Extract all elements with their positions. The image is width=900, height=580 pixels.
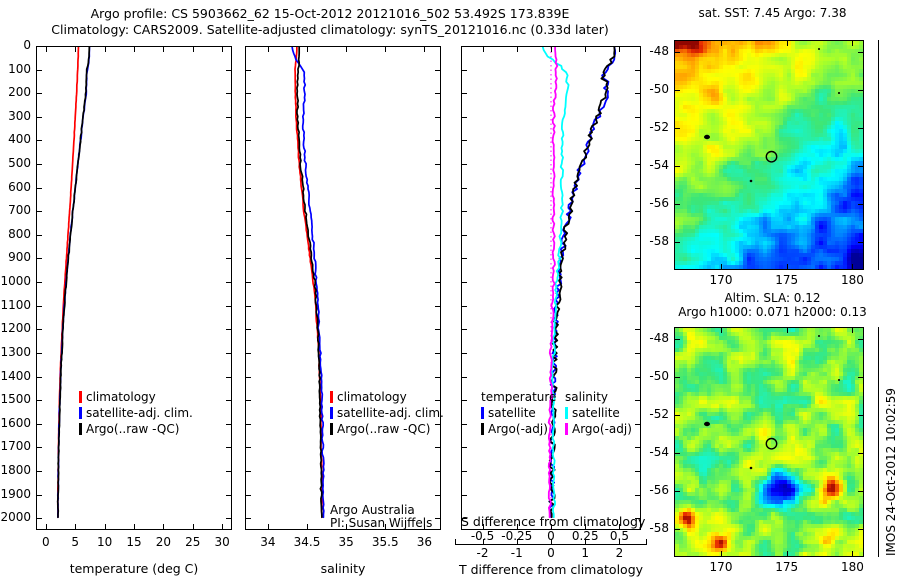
map-lat-tick [858,128,863,129]
map-lon-tick [852,264,853,269]
legend-color-swatch [79,407,82,419]
credit-pi: PI: Susan Wijffels [330,516,432,530]
depth-tick [37,447,42,448]
x-tick [134,47,135,52]
depth-tick [435,164,440,165]
depth-tick [435,93,440,94]
map-lon-tick [787,41,788,46]
map-lon-tick [787,551,788,556]
depth-tick [462,353,467,354]
map-lon-label: 180 [832,560,872,574]
depth-tick [462,377,467,378]
depth-tick [435,471,440,472]
depth-tick [37,329,42,330]
depth-tick [226,353,231,354]
depth-tick [435,424,440,425]
depth-tick [37,282,42,283]
depth-tick [246,306,251,307]
depth-tick [435,518,440,519]
depth-tick [246,70,251,71]
map-lon-label: 175 [767,560,807,574]
x-tick-label: 34.5 [285,535,329,549]
depth-tick [246,282,251,283]
map-lat-tick [675,529,680,530]
map-lat-label: -52 [637,120,669,134]
t-diff-tick-label: 2 [597,546,641,560]
depth-tick [462,424,467,425]
depth-tick-label: 400 [0,132,31,146]
map-lon-tick [721,551,722,556]
depth-tick-label: 1400 [0,369,31,383]
map-lat-tick [675,128,680,129]
map-lat-tick [858,491,863,492]
depth-tick [37,518,42,519]
map-lon-label: 170 [701,560,741,574]
t-diff-tick [585,539,586,545]
x-tick [307,47,308,52]
depth-tick [37,471,42,472]
depth-tick [462,235,467,236]
legend-label: Argo(..raw -QC) [86,422,179,436]
depth-tick [226,211,231,212]
map-lon-tick [852,551,853,556]
legend-color-swatch [481,407,484,419]
map-lat-tick [858,166,863,167]
x-tick [75,524,76,529]
depth-tick [462,164,467,165]
depth-tick-label: 1100 [0,298,31,312]
depth-tick [635,258,640,259]
depth-tick-label: 900 [0,250,31,264]
temperature-axis-label: temperature (deg C) [36,561,232,576]
map-lon-tick [787,264,788,269]
map-lon-label: 175 [767,273,807,287]
legend-label: satellite-adj. clim. [337,406,444,420]
depth-tick [37,258,42,259]
s-diff-tick [483,47,484,52]
depth-tick [635,140,640,141]
depth-tick [435,447,440,448]
salinity-profile-panel[interactable] [245,46,441,530]
depth-tick [435,140,440,141]
depth-tick [37,164,42,165]
legend-label: salinity [565,390,608,404]
map-lat-tick [858,204,863,205]
depth-tick [635,471,640,472]
depth-tick-label: 1500 [0,392,31,406]
t-diff-tick [619,539,620,545]
legend-color-swatch [565,423,568,435]
depth-tick [435,282,440,283]
map-lat-tick [858,90,863,91]
depth-tick [246,424,251,425]
depth-tick [435,46,440,47]
sla-map[interactable] [674,327,864,557]
depth-tick [635,211,640,212]
map-lat-label: -58 [637,521,669,535]
depth-tick [226,447,231,448]
legend-color-swatch [79,423,82,435]
depth-tick [435,188,440,189]
depth-tick [462,471,467,472]
map-lat-tick [675,242,680,243]
legend-label: satellite [488,406,536,420]
title-line-2: Climatology: CARS2009. Satellite-adjuste… [0,22,660,38]
x-tick-label: 34 [246,535,290,549]
x-tick [268,524,269,529]
map-lat-label: -50 [637,82,669,96]
depth-tick [37,235,42,236]
depth-tick-label: 800 [0,227,31,241]
depth-tick [462,329,467,330]
depth-tick [226,164,231,165]
x-tick [385,47,386,52]
depth-tick [462,495,467,496]
map-lat-label: -58 [637,234,669,248]
depth-tick [246,353,251,354]
map-lat-label: -56 [637,483,669,497]
depth-tick-label: 1600 [0,416,31,430]
depth-tick [37,306,42,307]
depth-tick [37,377,42,378]
x-tick [424,47,425,52]
depth-tick [462,258,467,259]
depth-tick [37,46,42,47]
map-lat-tick [675,52,680,53]
depth-tick [635,353,640,354]
depth-tick [246,46,251,47]
map-lon-tick [721,41,722,46]
depth-tick [37,400,42,401]
depth-tick [435,306,440,307]
x-tick [222,524,223,529]
t-diff-axis-end [646,539,647,545]
depth-tick [226,400,231,401]
map-lon-tick [852,41,853,46]
s-diff-tick [517,47,518,52]
x-tick-label: 35 [324,535,368,549]
depth-tick [635,424,640,425]
depth-tick [246,258,251,259]
map-lon-tick [787,328,788,333]
salinity-axis-label: salinity [245,561,441,576]
map-lat-tick [675,166,680,167]
depth-tick [246,495,251,496]
depth-tick [246,211,251,212]
depth-tick [246,140,251,141]
map-lat-tick [858,415,863,416]
legend-label: Argo(-adj) [572,422,632,436]
x-tick [46,47,47,52]
depth-tick [435,70,440,71]
depth-tick [37,211,42,212]
map-lat-tick [858,529,863,530]
legend-color-swatch [79,391,82,403]
depth-tick [226,70,231,71]
depth-tick [226,424,231,425]
depth-tick [635,518,640,519]
depth-tick-label: 100 [0,62,31,76]
depth-tick-label: 600 [0,180,31,194]
legend-color-swatch [330,391,333,403]
depth-tick [462,400,467,401]
depth-tick [246,447,251,448]
depth-tick [462,518,467,519]
legend-color-swatch [330,423,333,435]
depth-tick-label: 1800 [0,463,31,477]
depth-tick [462,188,467,189]
depth-tick [462,46,467,47]
depth-tick [246,164,251,165]
difference-bottom-axis-label: T difference from climatology [455,562,647,577]
depth-tick [226,495,231,496]
s-diff-tick [619,47,620,52]
map-lat-label: -54 [637,445,669,459]
depth-tick [37,117,42,118]
sst-map[interactable] [674,40,864,270]
legend-label: climatology [86,390,156,404]
depth-tick [435,258,440,259]
depth-tick [635,329,640,330]
depth-tick [435,117,440,118]
page-title: Argo profile: CS 5903662_62 15-Oct-2012 … [0,6,660,38]
map-lat-label: -52 [637,407,669,421]
depth-tick [635,117,640,118]
map-frame-stub [878,327,879,557]
depth-tick [462,282,467,283]
depth-tick [635,400,640,401]
map-lat-tick [675,90,680,91]
sla-map-title-line2: Argo h1000: 0.071 h2000: 0.13 [655,305,890,319]
depth-tick [435,400,440,401]
depth-tick [246,471,251,472]
depth-tick [246,518,251,519]
depth-tick [635,188,640,189]
credit-argo-australia: Argo Australia [330,503,415,517]
map-lat-label: -50 [637,369,669,383]
depth-tick [435,377,440,378]
depth-tick [226,518,231,519]
x-tick [105,47,106,52]
depth-tick [246,117,251,118]
depth-tick [435,353,440,354]
difference-panel[interactable] [461,46,641,530]
x-tick [307,524,308,529]
x-tick [105,524,106,529]
imos-timestamp: IMOS 24-Oct-2012 10:02:59 [884,388,898,556]
map-lat-label: -54 [637,158,669,172]
depth-tick-label: 2000 [0,510,31,524]
depth-tick [226,258,231,259]
map-lat-label: -56 [637,196,669,210]
depth-tick [462,70,467,71]
map-lon-label: 180 [832,273,872,287]
depth-tick-label: 1300 [0,345,31,359]
depth-tick [226,93,231,94]
legend-label: temperature [481,390,556,404]
x-tick [163,524,164,529]
map-lat-tick [675,491,680,492]
map-lat-tick [675,453,680,454]
legend-label: Argo(..raw -QC) [337,422,430,436]
x-tick [163,47,164,52]
depth-tick [635,70,640,71]
t-diff-axis-end [455,539,456,545]
map-lon-tick [721,264,722,269]
x-tick [193,47,194,52]
map-lat-tick [858,242,863,243]
depth-tick-label: 1000 [0,274,31,288]
depth-tick [462,93,467,94]
map-frame-stub [878,40,879,270]
x-tick [193,524,194,529]
depth-tick-label: 1900 [0,487,31,501]
depth-tick [226,46,231,47]
legend-color-swatch [565,407,568,419]
x-tick [222,47,223,52]
depth-tick [435,329,440,330]
depth-tick [435,235,440,236]
depth-tick [37,93,42,94]
legend-label: satellite-adj. clim. [86,406,193,420]
sla-map-title-line1: Altim. SLA: 0.12 [660,291,885,305]
depth-tick [37,70,42,71]
depth-tick [462,140,467,141]
depth-tick [435,211,440,212]
map-lat-tick [858,453,863,454]
t-diff-tick [483,539,484,545]
s-diff-tick [551,47,552,52]
depth-tick [226,140,231,141]
depth-tick [37,495,42,496]
x-tick [75,47,76,52]
map-lat-tick [675,377,680,378]
difference-top-axis-label: S difference from climatology [461,514,641,529]
depth-tick [226,306,231,307]
legend-label: Argo(-adj) [488,422,548,436]
x-tick-label: 35.5 [363,535,407,549]
depth-tick-label: 200 [0,85,31,99]
depth-tick [462,117,467,118]
depth-tick [246,377,251,378]
t-diff-tick [517,539,518,545]
depth-tick [635,282,640,283]
map-lat-tick [858,377,863,378]
depth-tick-label: 1700 [0,439,31,453]
depth-tick [462,211,467,212]
map-lat-tick [858,52,863,53]
x-tick-label: 30 [200,535,244,549]
map-lat-tick [675,339,680,340]
depth-tick-label: 1200 [0,321,31,335]
legend-label: climatology [337,390,407,404]
map-lon-tick [852,328,853,333]
x-tick [46,524,47,529]
x-tick-label: 36 [402,535,446,549]
x-tick [268,47,269,52]
depth-tick [462,447,467,448]
depth-tick [246,93,251,94]
depth-tick [635,306,640,307]
depth-tick [226,117,231,118]
t-diff-tick [551,539,552,545]
depth-tick-label: 0 [0,38,31,52]
map-lon-label: 170 [701,273,741,287]
depth-tick [226,188,231,189]
depth-tick [435,495,440,496]
depth-tick [462,306,467,307]
map-lat-tick [858,339,863,340]
depth-tick [226,329,231,330]
depth-tick [37,188,42,189]
map-lat-tick [675,415,680,416]
x-tick [134,524,135,529]
map-lon-tick [721,328,722,333]
depth-tick-label: 300 [0,109,31,123]
depth-tick-label: 500 [0,156,31,170]
depth-tick [37,424,42,425]
legend-color-swatch [330,407,333,419]
legend-color-swatch [481,423,484,435]
depth-tick [37,140,42,141]
s-diff-tick [585,47,586,52]
depth-tick [246,329,251,330]
depth-tick [246,188,251,189]
depth-tick-label: 700 [0,203,31,217]
x-tick [346,47,347,52]
depth-tick [226,235,231,236]
depth-tick [246,400,251,401]
depth-tick [226,282,231,283]
sst-map-title: sat. SST: 7.45 Argo: 7.38 [660,6,885,20]
map-lat-tick [675,204,680,205]
depth-tick [226,377,231,378]
legend-label: satellite [572,406,620,420]
depth-tick [226,471,231,472]
title-line-1: Argo profile: CS 5903662_62 15-Oct-2012 … [0,6,660,22]
depth-tick [246,235,251,236]
map-lat-label: -48 [637,44,669,58]
temperature-profile-panel[interactable] [36,46,232,530]
depth-tick [37,353,42,354]
map-lat-label: -48 [637,331,669,345]
